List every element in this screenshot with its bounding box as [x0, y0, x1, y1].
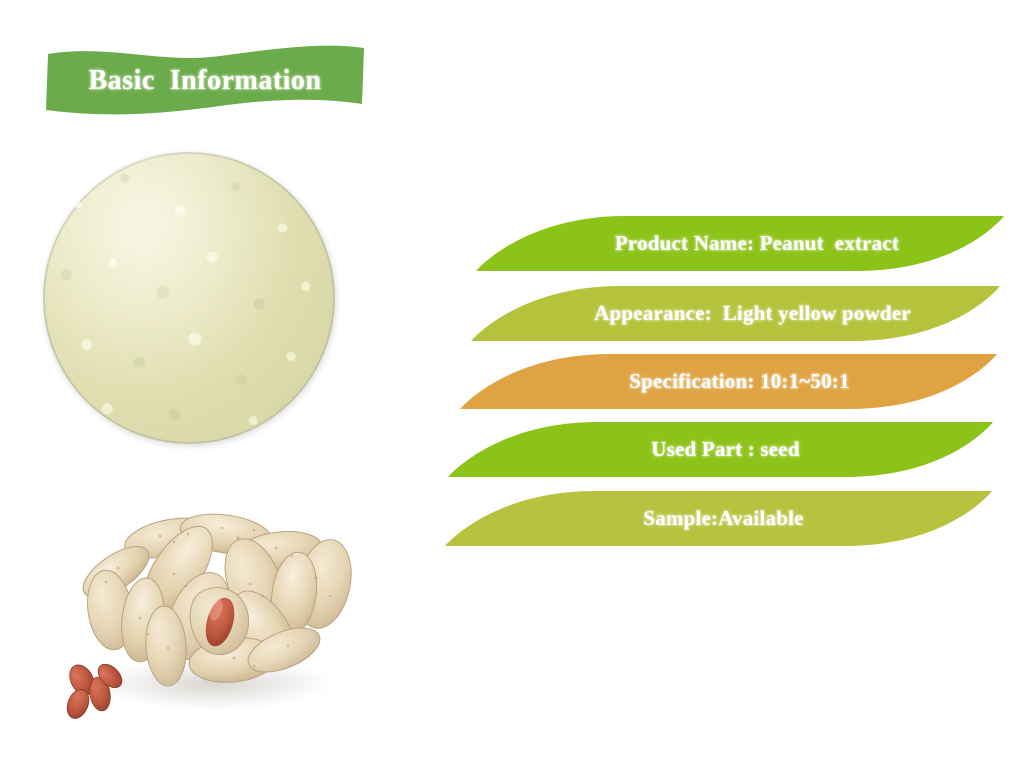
ribbon-path	[471, 286, 1000, 341]
peanuts-image	[48, 498, 358, 730]
ribbon-path	[445, 491, 992, 546]
opened-peanut-shell	[190, 588, 248, 655]
spec-row-specification[interactable]: Specification: 10:1~50:1	[460, 354, 997, 409]
dish-glass-sheen	[43, 152, 335, 444]
ribbon-shape	[476, 216, 1004, 271]
spec-row-sample[interactable]: Sample:Available	[445, 491, 992, 546]
ribbon-shape	[445, 491, 992, 546]
spec-row-product-name[interactable]: Product Name: Peanut extract	[476, 216, 1004, 271]
banner-ribbon-shape	[40, 42, 370, 120]
specification-list: Product Name: Peanut extract Appearance:…	[440, 210, 1016, 555]
peanuts-illustration	[48, 498, 358, 730]
ribbon-shape	[460, 354, 997, 409]
ribbon-path	[476, 216, 1004, 271]
powder-dish-image	[43, 152, 335, 444]
ribbon-shape	[448, 422, 993, 477]
ribbon-path	[448, 422, 993, 477]
spec-row-used-part[interactable]: Used Part : seed	[448, 422, 993, 477]
basic-information-banner: Basic Information	[40, 42, 370, 120]
spec-row-appearance[interactable]: Appearance: Light yellow powder	[471, 286, 1000, 341]
ribbon-path	[460, 354, 997, 409]
ribbon-shape	[471, 286, 1000, 341]
